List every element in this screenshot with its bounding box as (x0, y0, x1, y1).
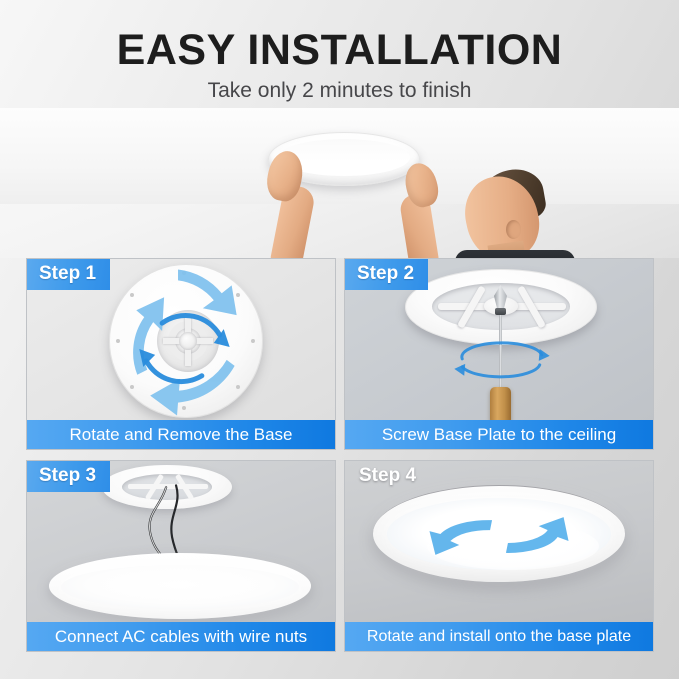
step-panel-1: Step 1 Rotate and Remove the Base (26, 258, 336, 450)
screw-hole-icon (116, 339, 120, 343)
page-subtitle: Take only 2 minutes to finish (0, 73, 679, 103)
lamp-glow (427, 522, 599, 570)
step-panel-4: Step 4 Rotate and install onto the base … (344, 460, 654, 652)
screw-hole-icon (236, 293, 240, 297)
hero-photo (0, 108, 679, 258)
step-1-badge: Step 1 (27, 259, 110, 290)
step-panel-3: Step 3 Connect AC cables with wire nuts (26, 460, 336, 652)
screw-hole-icon (130, 293, 134, 297)
steps-grid: Step 1 Rotate and Remove the Base (26, 258, 654, 662)
person-ear (506, 220, 521, 239)
screwdriver-handle (490, 387, 511, 422)
screwdriver-collar (495, 308, 506, 315)
step-3-caption: Connect AC cables with wire nuts (27, 622, 335, 651)
lamp-diffuser (387, 498, 611, 570)
step-4-caption: Rotate and install onto the base plate (345, 622, 653, 651)
installation-infographic: EASY INSTALLATION Take only 2 minutes to… (0, 0, 679, 679)
screw-hole-icon (236, 385, 240, 389)
step-2-badge: Step 2 (345, 259, 428, 290)
mounted-base-plate (102, 465, 232, 509)
screw-hole-icon (130, 385, 134, 389)
header: EASY INSTALLATION Take only 2 minutes to… (0, 0, 679, 112)
page-title: EASY INSTALLATION (0, 0, 679, 73)
installed-lamp (373, 485, 625, 582)
base-plate-hub (157, 310, 219, 372)
step-panel-2: Step 2 Screw Base Plate to the ceiling (344, 258, 654, 450)
led-lamp-lit (49, 553, 311, 619)
step-1-caption: Rotate and Remove the Base (27, 420, 335, 449)
screw-hole-icon (251, 339, 255, 343)
screw-hole-icon (182, 406, 186, 410)
plate-spoke (128, 484, 208, 489)
step-2-caption: Screw Base Plate to the ceiling (345, 420, 653, 449)
lamp-diffuser (61, 565, 299, 609)
step-4-badge: Step 4 (345, 461, 430, 492)
base-plate-disc (109, 264, 263, 418)
screw-hole-icon (182, 271, 186, 275)
step-3-badge: Step 3 (27, 461, 110, 492)
hub-core (179, 332, 197, 350)
